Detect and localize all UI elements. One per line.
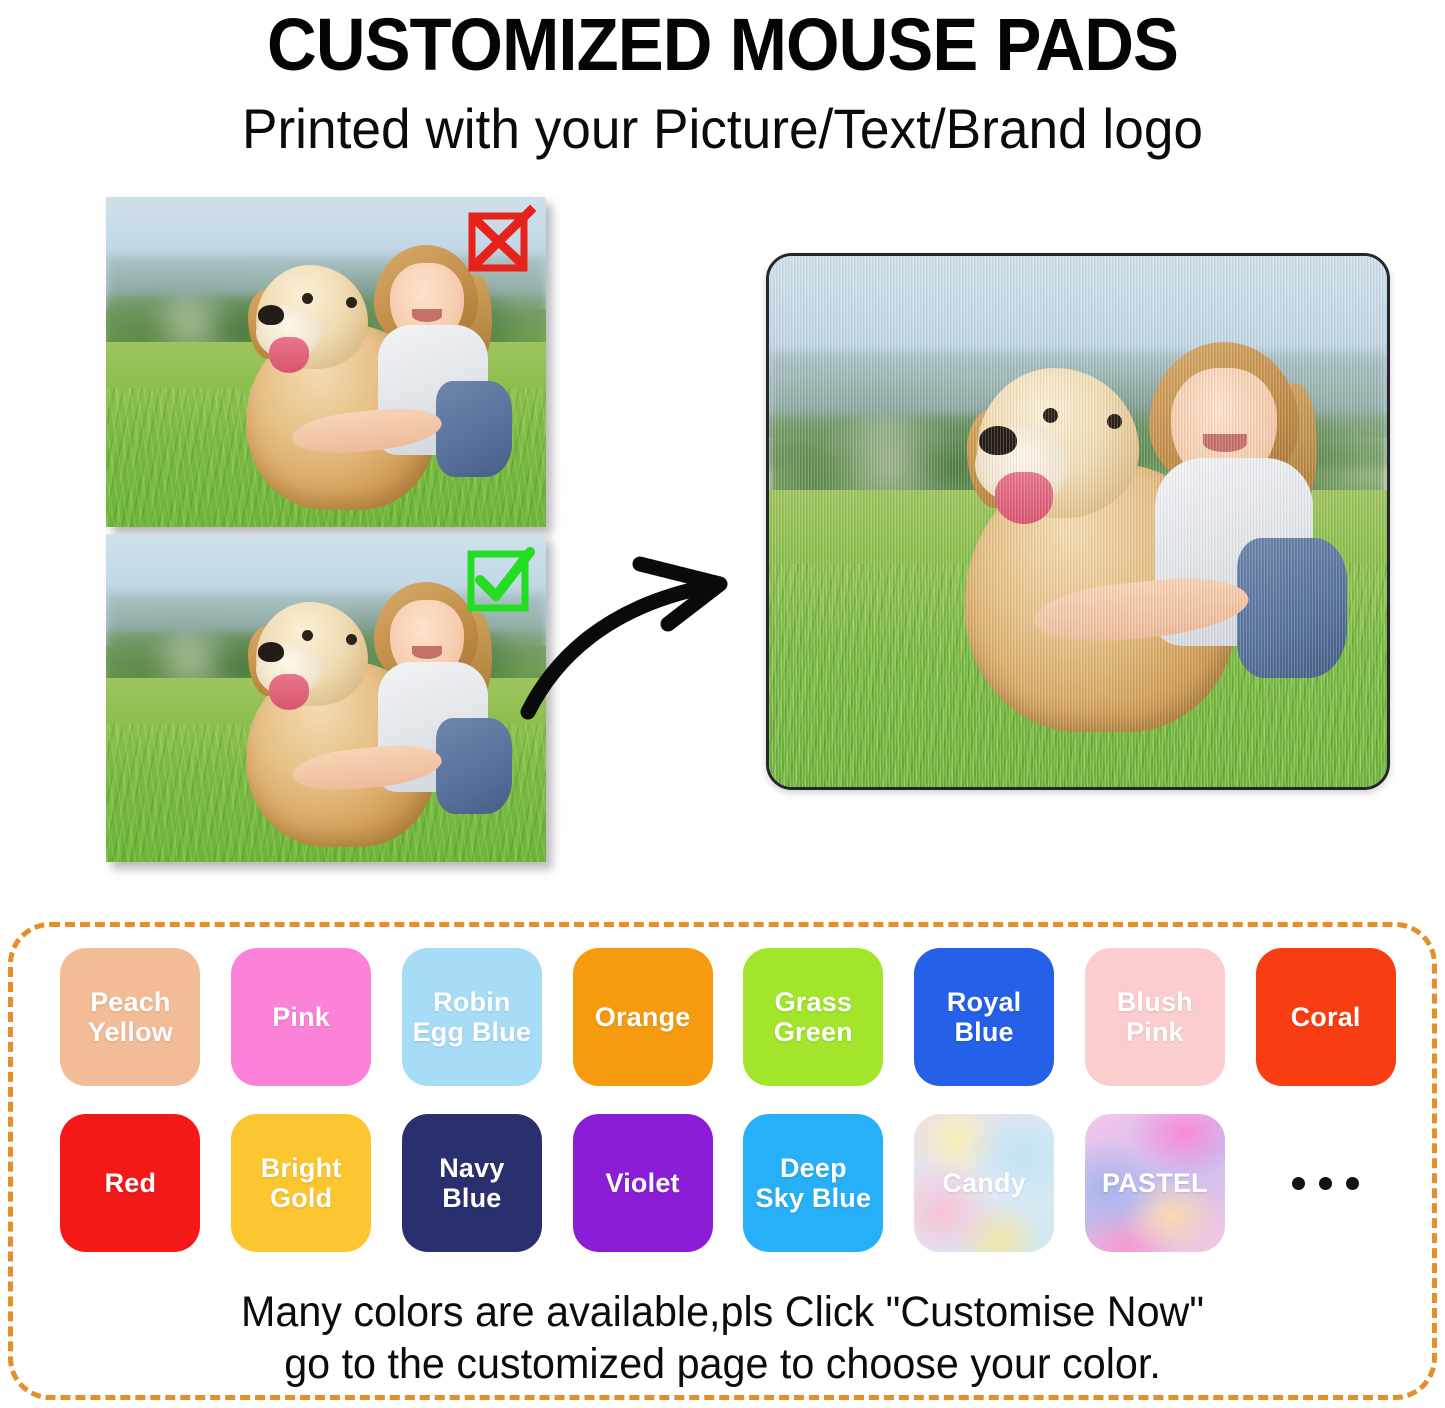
dog-eye (302, 293, 313, 304)
color-swatch-label: Robin Egg Blue (413, 987, 532, 1047)
red-x-checkbox-icon (463, 203, 537, 277)
page-title: CUSTOMIZED MOUSE PADS (51, 2, 1395, 87)
girl-smile (1203, 434, 1247, 452)
girl-smile (412, 646, 442, 659)
dog-tongue (269, 337, 309, 373)
accepted-photo-example (106, 534, 546, 862)
color-swatch-bright-gold[interactable]: Bright Gold (231, 1114, 371, 1252)
dog-nose (258, 305, 284, 325)
color-swatch-candy[interactable]: Candy (914, 1114, 1054, 1252)
dog-tongue (269, 674, 309, 710)
dog-nose (979, 426, 1017, 455)
color-swatch-label: Navy Blue (439, 1153, 504, 1213)
flow-arrow (520, 540, 770, 725)
page-subtitle: Printed with your Picture/Text/Brand log… (36, 96, 1409, 161)
color-swatch-orange[interactable]: Orange (573, 948, 713, 1086)
color-swatch-deep-sky-blue[interactable]: Deep Sky Blue (743, 1114, 883, 1252)
color-swatch-pastel[interactable]: PASTEL (1085, 1114, 1225, 1252)
color-swatch-peach-yellow[interactable]: Peach Yellow (60, 948, 200, 1086)
color-swatch-pink[interactable]: Pink (231, 948, 371, 1086)
girl-jeans (436, 718, 512, 814)
color-swatch-label: Violet (606, 1168, 680, 1198)
color-swatch-navy-blue[interactable]: Navy Blue (402, 1114, 542, 1252)
color-swatch-label: Bright Gold (261, 1153, 342, 1213)
color-swatch-royal-blue[interactable]: Royal Blue (914, 948, 1054, 1086)
dog-nose (258, 642, 284, 662)
dog-eye (346, 634, 357, 645)
color-swatch-label: Royal Blue (947, 987, 1022, 1047)
photo-scene-product (769, 256, 1387, 787)
girl-smile (412, 309, 442, 322)
ellipsis-dot (1319, 1177, 1332, 1190)
color-swatch-label: Peach Yellow (88, 987, 173, 1047)
color-swatch-coral[interactable]: Coral (1256, 948, 1396, 1086)
color-swatch-label: Deep Sky Blue (756, 1153, 872, 1213)
more-colors-ellipsis (1256, 1114, 1396, 1252)
dog-eye (1107, 414, 1122, 429)
color-swatch-blush-pink[interactable]: Blush Pink (1085, 948, 1225, 1086)
dog-tongue (995, 472, 1053, 524)
color-swatch-label: Orange (595, 1002, 691, 1032)
mouse-pad-preview (766, 253, 1390, 790)
color-swatch-label: Coral (1291, 1002, 1361, 1032)
caption-line-1: Many colors are available,pls Click "Cus… (29, 1286, 1416, 1338)
color-swatch-label: Red (105, 1168, 157, 1198)
color-swatch-label: Grass Green (774, 987, 853, 1047)
dog-eye (1043, 408, 1058, 423)
girl-jeans (436, 381, 512, 477)
color-swatch-grid: Peach YellowPinkRobin Egg BlueOrangeGras… (45, 947, 1411, 1253)
color-swatch-label: PASTEL (1102, 1168, 1208, 1198)
ellipsis-dot (1346, 1177, 1359, 1190)
rejected-badge (463, 203, 537, 277)
curved-arrow-icon (520, 540, 770, 720)
girl-jeans (1237, 538, 1347, 678)
color-swatch-label: Pink (272, 1002, 330, 1032)
color-swatch-label: Candy (942, 1168, 1026, 1198)
color-swatch-robin-egg-blue[interactable]: Robin Egg Blue (402, 948, 542, 1086)
caption-line-2: go to the customized page to choose your… (29, 1338, 1416, 1390)
color-swatch-label: Blush Pink (1117, 987, 1193, 1047)
dog-eye (346, 297, 357, 308)
ellipsis-dot (1292, 1177, 1305, 1190)
dog-eye (302, 630, 313, 641)
color-swatch-grass-green[interactable]: Grass Green (743, 948, 883, 1086)
rejected-photo-example (106, 197, 546, 527)
color-swatch-red[interactable]: Red (60, 1114, 200, 1252)
color-panel-caption: Many colors are available,pls Click "Cus… (29, 1286, 1416, 1391)
color-swatch-violet[interactable]: Violet (573, 1114, 713, 1252)
